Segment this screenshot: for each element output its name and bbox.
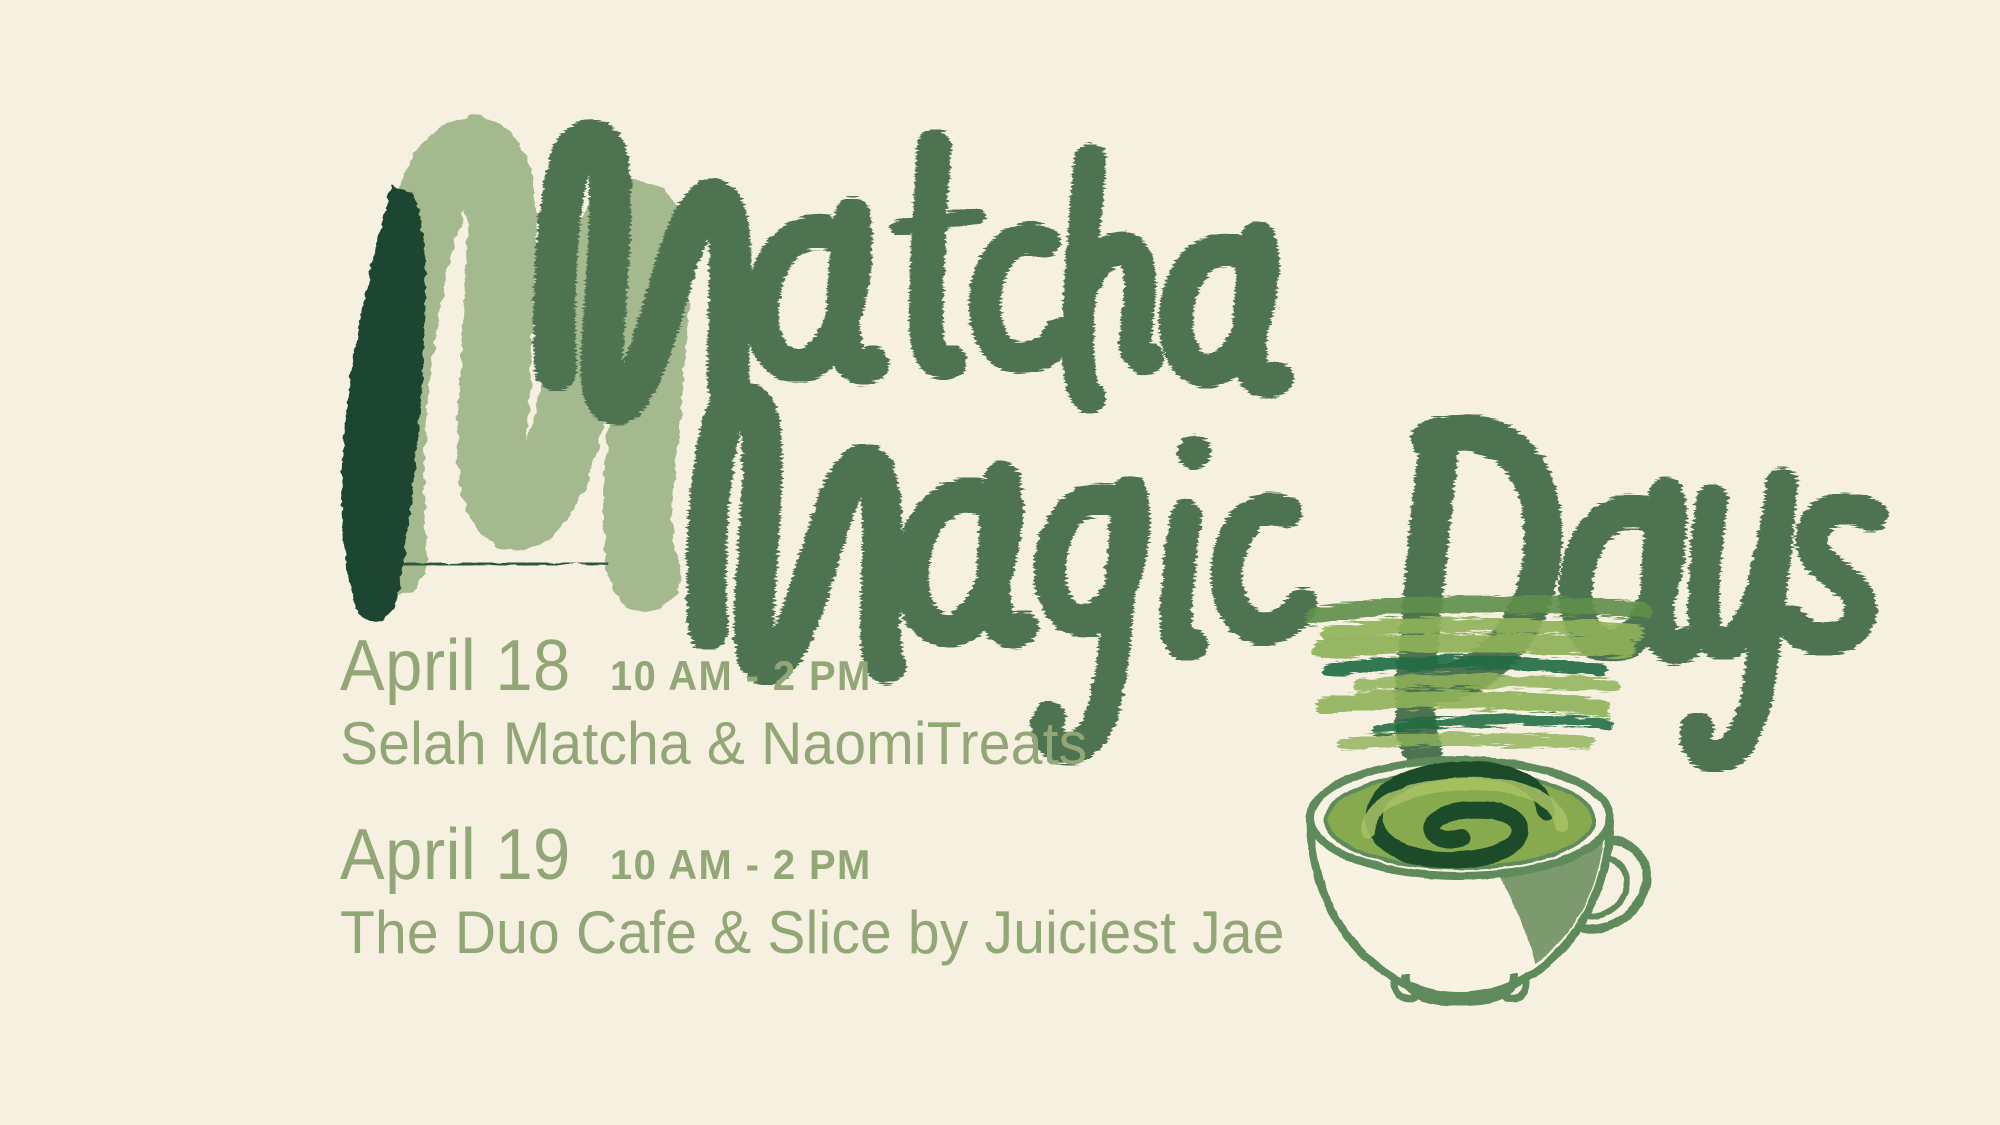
schedule-date: April 19 — [340, 819, 571, 891]
schedule-date: April 18 — [340, 630, 571, 702]
schedule-list: April 18 10 AM - 2 PM Selah Matcha & Nao… — [340, 630, 1260, 964]
schedule-date-row: April 19 10 AM - 2 PM — [340, 819, 1260, 891]
schedule-date-row: April 18 10 AM - 2 PM — [340, 630, 1260, 702]
headline-word-matcha — [555, 140, 1276, 404]
schedule-time: 10 AM - 2 PM — [610, 844, 872, 886]
schedule-entry: April 18 10 AM - 2 PM Selah Matcha & Nao… — [340, 630, 1260, 775]
poster-canvas: April 18 10 AM - 2 PM Selah Matcha & Nao… — [0, 0, 2000, 1125]
schedule-vendors: The Duo Cafe & Slice by Juiciest Jae — [340, 901, 1214, 964]
schedule-time: 10 AM - 2 PM — [610, 655, 872, 697]
schedule-vendors: Selah Matcha & NaomiTreats — [340, 712, 1214, 775]
schedule-entry: April 19 10 AM - 2 PM The Duo Cafe & Sli… — [340, 819, 1260, 964]
matcha-latte-cup-icon — [1290, 590, 1670, 1030]
